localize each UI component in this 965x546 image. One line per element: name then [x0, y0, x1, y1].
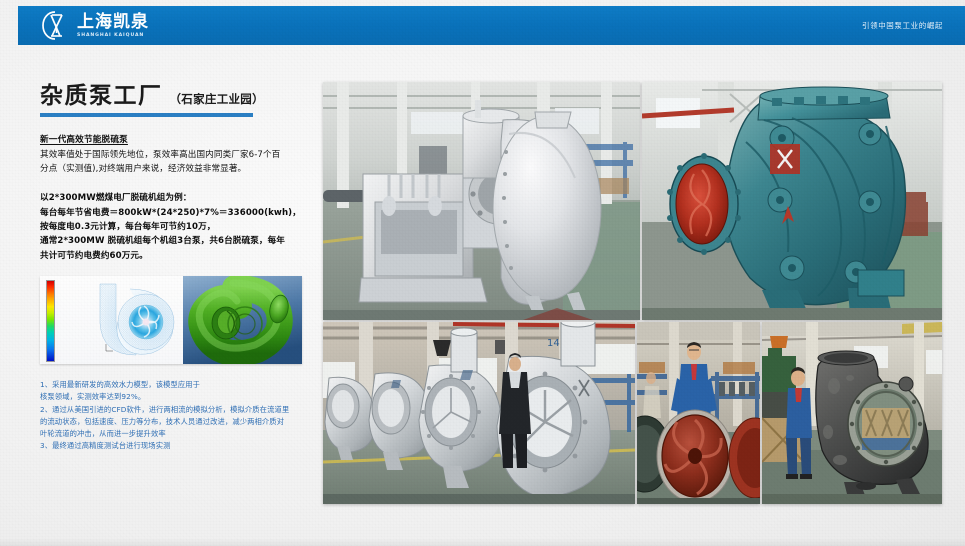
cfd-tick: 1.00e+00: [54, 355, 80, 357]
cfd-tick: 5.00e+00: [54, 337, 80, 339]
photo-teal-pump-casing: [642, 82, 942, 320]
photo-gray-pump-assembly: [323, 82, 640, 320]
page-title-main: 杂质泵工厂: [40, 84, 163, 109]
savings-calculation-block: 以2*300MW燃煤电厂脱硫机组为例： 每台每年节省电费＝800kW*(24*2…: [40, 191, 318, 263]
photo-raw-casting: [762, 322, 942, 504]
intro-heading: 新一代高效节能脱硫泵: [40, 133, 318, 145]
cfd-tick: 3.00e+00: [54, 346, 80, 348]
photo-pump-casing-row: 14: [323, 322, 635, 504]
cfd-tick: 1.80e+01: [54, 279, 80, 281]
calc-line-4: 通常2*300MW 脱硫机组每个机组3台泵，共6台脱硫泵，每年: [40, 234, 318, 248]
cfd-figure-strip: 1.80e+01 1.70e+01 1.60e+01 1.50e+01 1.40…: [40, 276, 302, 364]
logo-chinese-name: 上海凯泉: [77, 14, 149, 31]
left-content-column: 杂质泵工厂 （石家庄工业园） 新一代高效节能脱硫泵 其效率值处于国际领先地位，泵…: [40, 84, 318, 263]
cfd-tick: 1.20e+01: [54, 306, 80, 308]
slide-canvas: 上海凯泉 SHANGHAI KAIQUAN 引领中国泵工业的崛起 杂质泵工厂 （…: [0, 0, 965, 546]
photo-red-impellers: [637, 322, 760, 504]
green-volute-model-figure: [183, 276, 302, 364]
calc-line-2: 每台每年节省电费＝800kW*(24*250)*7%＝336000(kwh)，: [40, 206, 318, 220]
cfd-tick: 0.00e+00: [54, 359, 80, 361]
cfd-tick: 1.60e+01: [54, 288, 80, 290]
header-slogan: 引领中国泵工业的崛起: [862, 6, 943, 45]
kq-logo-on-pump: [770, 144, 800, 174]
intro-line-2: 分点（实测值),对终端用户来说，经济效益非常显著。: [40, 163, 318, 177]
calc-line-5: 共计可节约电费约60万元。: [40, 249, 318, 263]
logo-text-group: 上海凯泉 SHANGHAI KAIQUAN: [77, 12, 149, 39]
calc-line-1: 以2*300MW燃煤电厂脱硫机组为例：: [40, 191, 318, 205]
cfd-tick: 2.00e+00: [54, 351, 80, 353]
cfd-tick: 9.00e+00: [54, 319, 80, 321]
note-3: 3、最终通过高精度测试台进行现场实测: [40, 440, 330, 452]
kq-monogram-icon: [40, 10, 71, 41]
note-2-line-2: 的流动状态，包括速度、压力等分布，技术人员通过改进，减少两相介质对: [40, 416, 330, 428]
cfd-tick: 1.30e+01: [54, 301, 80, 303]
page-title-sub: （石家庄工业园）: [170, 91, 264, 107]
cfd-tick: 7.00e+00: [54, 328, 80, 330]
intro-line-1: 其效率值处于国际领先地位，泵效率高出国内同类厂家6-7个百: [40, 149, 318, 163]
intro-paragraph: 其效率值处于国际领先地位，泵效率高出国内同类厂家6-7个百 分点（实测值),对终…: [40, 149, 318, 177]
cfd-tick: 1.10e+01: [54, 310, 80, 312]
cfd-tick: 6.00e+00: [54, 333, 80, 335]
calc-line-3: 按每度电0.3元计算，每台每年可节约10万，: [40, 220, 318, 234]
cfd-tick: 1.70e+01: [54, 283, 80, 285]
note-1-line-1: 1、采用最新研发的高效水力模型，该模型应用于: [40, 379, 330, 391]
header-bar: 上海凯泉 SHANGHAI KAIQUAN 引领中国泵工业的崛起: [18, 6, 965, 45]
volute-mesh-contour-icon: [86, 281, 178, 361]
crane-bay-number: 14: [547, 338, 560, 349]
brand-logo[interactable]: 上海凯泉 SHANGHAI KAIQUAN: [40, 9, 149, 42]
logo-english-name: SHANGHAI KAIQUAN: [77, 34, 149, 39]
title-underline-rule: [40, 113, 253, 117]
cfd-tick: 1.00e+01: [54, 315, 80, 317]
note-1-line-2: 核泵领域，实测效率达到92%。: [40, 391, 330, 403]
technical-notes-block: 1、采用最新研发的高效水力模型，该模型应用于 核泵领域，实测效率达到92%。 2…: [40, 379, 330, 453]
cfd-contour-figure: 1.80e+01 1.70e+01 1.60e+01 1.50e+01 1.40…: [40, 276, 183, 364]
cfd-tick: 1.50e+01: [54, 292, 80, 294]
cfd-tick: 4.00e+00: [54, 342, 80, 344]
page-title: 杂质泵工厂 （石家庄工业园）: [40, 84, 318, 109]
note-2-line-1: 2、通过从美国引进的CFD软件，进行两相流的模拟分析，模拟介质在流道里: [40, 404, 330, 416]
cfd-tick: 1.40e+01: [54, 297, 80, 299]
cfd-colorbar-ticks: 1.80e+01 1.70e+01 1.60e+01 1.50e+01 1.40…: [54, 279, 80, 361]
note-2-line-3: 叶轮流道的冲击，从而进一步提升效率: [40, 428, 330, 440]
green-3d-volute-icon: [183, 276, 302, 364]
cfd-tick: 8.00e+00: [54, 324, 80, 326]
